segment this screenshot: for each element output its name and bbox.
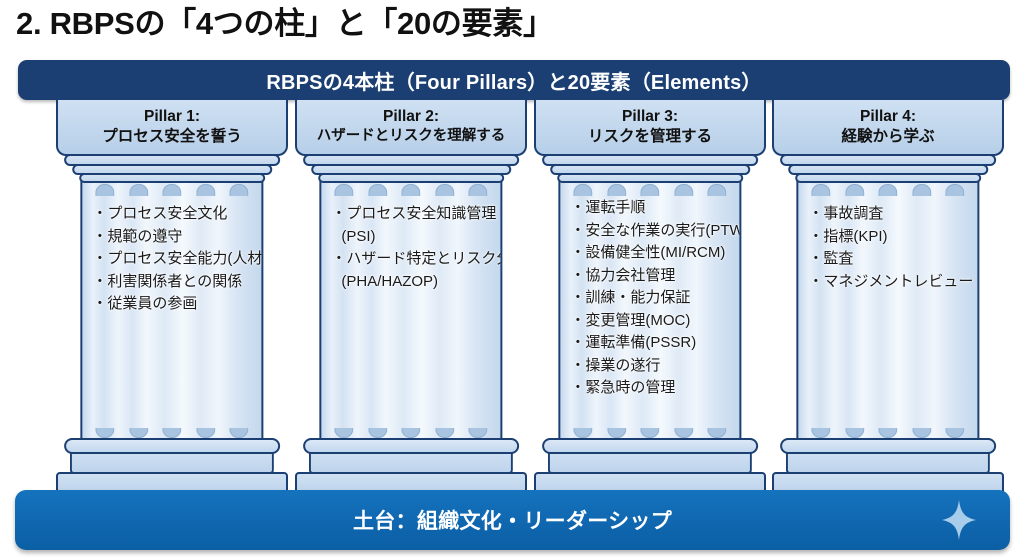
pillar-1-label-en: Pillar 1: — [144, 107, 200, 126]
pillar-3[interactable]: Pillar 3: リスクを管理する ・運転手順 ・安全な作業の実行(PTW) … — [534, 100, 766, 490]
diagram-header-banner: RBPSの4本柱（Four Pillars）と20要素（Elements） — [18, 60, 1010, 100]
element-subtext: (PHA/HAZOP) — [331, 271, 494, 294]
list-item: ・設備健全性(MI/RCM) — [570, 242, 733, 265]
element-text: ・運転手順 — [570, 199, 645, 216]
list-item: ・安全な作業の実行(PTW) — [570, 220, 733, 243]
list-item: ・協力会社管理 — [570, 265, 733, 288]
foundation-bar: 土台：組織文化・リーダーシップ — [15, 490, 1010, 550]
pillar-3-shaft: ・運転手順 ・安全な作業の実行(PTW) ・設備健全性(MI/RCM) ・協力会… — [558, 181, 741, 440]
list-item: ・プロセス安全知識管理 (PSI) — [331, 203, 494, 248]
element-text: ・設備健全性(MI/RCM) — [570, 244, 725, 261]
pillar-3-echinus-lower — [557, 173, 743, 183]
pillar-1-label-ja: プロセス安全を誓う — [102, 126, 242, 147]
element-text: ・監査 — [808, 250, 853, 267]
element-text: ・規範の遵守 — [92, 228, 182, 245]
list-item: ・マネジメントレビュー — [808, 271, 971, 294]
pillar-3-flute-tops — [560, 181, 739, 197]
pillar-2-echinus-lower — [318, 173, 504, 183]
element-text: ・安全な作業の実行(PTW) — [570, 222, 741, 239]
list-item: ・緊急時の管理 — [570, 377, 733, 400]
list-item: ・訓練・能力保証 — [570, 287, 733, 310]
element-text: ・緊急時の管理 — [570, 379, 675, 396]
pillar-1-echinus-lower — [79, 173, 265, 183]
element-text: ・運転準備(PSSR) — [570, 334, 696, 351]
pillar-3-base-scotia — [548, 452, 752, 474]
element-subtext: (PSI) — [331, 226, 494, 249]
pillar-4-base-scotia — [786, 452, 990, 474]
pillar-3-label-en: Pillar 3: — [622, 107, 678, 126]
list-item: ・プロセス安全文化 — [92, 203, 255, 226]
pillar-2-base-scotia — [309, 452, 513, 474]
element-text: ・プロセス安全文化 — [92, 205, 227, 222]
pillar-2-base-torus — [303, 438, 519, 454]
element-text: ・訓練・能力保証 — [570, 289, 690, 306]
pillar-4-shaft: ・事故調査 ・指標(KPI) ・監査 ・マネジメントレビュー — [796, 181, 979, 440]
element-text: ・操業の遂行 — [570, 357, 660, 374]
pillar-1-flute-tops — [82, 181, 261, 197]
element-text: ・指標(KPI) — [808, 228, 887, 245]
list-item: ・操業の遂行 — [570, 355, 733, 378]
list-item: ・指標(KPI) — [808, 226, 971, 249]
pillar-4-label-ja: 経験から学ぶ — [841, 126, 934, 147]
element-text: ・マネジメントレビュー — [808, 273, 973, 290]
pillar-1-capital: Pillar 1: プロセス安全を誓う — [56, 100, 288, 156]
pillar-1-base-scotia — [70, 452, 274, 474]
foundation-label: 土台：組織文化・リーダーシップ — [353, 505, 672, 535]
list-item: ・運転手順 — [570, 197, 733, 220]
element-text: ・従業員の参画 — [92, 295, 197, 312]
list-item: ・ハザード特定とリスク分析 (PHA/HAZOP) — [331, 248, 494, 293]
pillar-4[interactable]: Pillar 4: 経験から学ぶ ・事故調査 ・指標(KPI) ・監査 ・マネジ… — [772, 100, 1004, 490]
pillar-3-capital: Pillar 3: リスクを管理する — [534, 100, 766, 156]
sparkle-icon — [942, 500, 976, 540]
rbps-pillars-diagram: RBPSの4本柱（Four Pillars）と20要素（Elements） Pi… — [0, 48, 1024, 559]
diagram-header-label: RBPSの4本柱（Four Pillars）と20要素（Elements） — [266, 66, 761, 95]
pillar-2-element-list: ・プロセス安全知識管理 (PSI) ・ハザード特定とリスク分析 (PHA/HAZ… — [321, 203, 500, 293]
list-item: ・事故調査 — [808, 203, 971, 226]
list-item: ・規範の遵守 — [92, 226, 255, 249]
element-text: ・プロセス安全能力(人材) — [92, 250, 263, 267]
element-text: ・事故調査 — [808, 205, 883, 222]
list-item: ・利害関係者との関係 — [92, 271, 255, 294]
list-item: ・従業員の参画 — [92, 293, 255, 316]
list-item: ・変更管理(MOC) — [570, 310, 733, 333]
list-item: ・プロセス安全能力(人材) — [92, 248, 255, 271]
pillar-1-element-list: ・プロセス安全文化 ・規範の遵守 ・プロセス安全能力(人材) ・利害関係者との関… — [82, 203, 261, 316]
page-title: 2. RBPSの「4つの柱」と「20の要素」 — [16, 2, 916, 46]
pillar-3-element-list: ・運転手順 ・安全な作業の実行(PTW) ・設備健全性(MI/RCM) ・協力会… — [560, 197, 739, 400]
element-text: ・プロセス安全知識管理 — [331, 205, 496, 222]
pillar-1[interactable]: Pillar 1: プロセス安全を誓う ・プロセス安全文化 ・規範の遵守 ・プロ… — [56, 100, 288, 490]
pillar-2-label-en: Pillar 2: — [383, 107, 439, 126]
pillar-4-flute-tops — [798, 181, 977, 197]
pillar-4-base-torus — [780, 438, 996, 454]
pillar-2-label-ja: ハザードとリスクを理解する — [317, 126, 506, 147]
pillar-3-base-torus — [542, 438, 758, 454]
list-item: ・監査 — [808, 248, 971, 271]
element-text: ・協力会社管理 — [570, 267, 675, 284]
pillar-4-echinus-lower — [795, 173, 981, 183]
element-text: ・ハザード特定とリスク分析 — [331, 250, 502, 267]
pillar-2[interactable]: Pillar 2: ハザードとリスクを理解する ・プロセス安全知識管理 (PSI… — [295, 100, 527, 490]
pillar-1-base-torus — [64, 438, 280, 454]
list-item: ・運転準備(PSSR) — [570, 332, 733, 355]
pillar-4-label-en: Pillar 4: — [860, 107, 916, 126]
pillar-1-shaft: ・プロセス安全文化 ・規範の遵守 ・プロセス安全能力(人材) ・利害関係者との関… — [80, 181, 263, 440]
pillar-2-flute-tops — [321, 181, 500, 197]
pillar-4-element-list: ・事故調査 ・指標(KPI) ・監査 ・マネジメントレビュー — [798, 203, 977, 293]
element-text: ・変更管理(MOC) — [570, 312, 690, 329]
element-text: ・利害関係者との関係 — [92, 273, 242, 290]
pillar-3-label-ja: リスクを管理する — [588, 126, 712, 147]
pillar-4-capital: Pillar 4: 経験から学ぶ — [772, 100, 1004, 156]
pillar-2-shaft: ・プロセス安全知識管理 (PSI) ・ハザード特定とリスク分析 (PHA/HAZ… — [319, 181, 502, 440]
pillar-2-capital: Pillar 2: ハザードとリスクを理解する — [295, 100, 527, 156]
